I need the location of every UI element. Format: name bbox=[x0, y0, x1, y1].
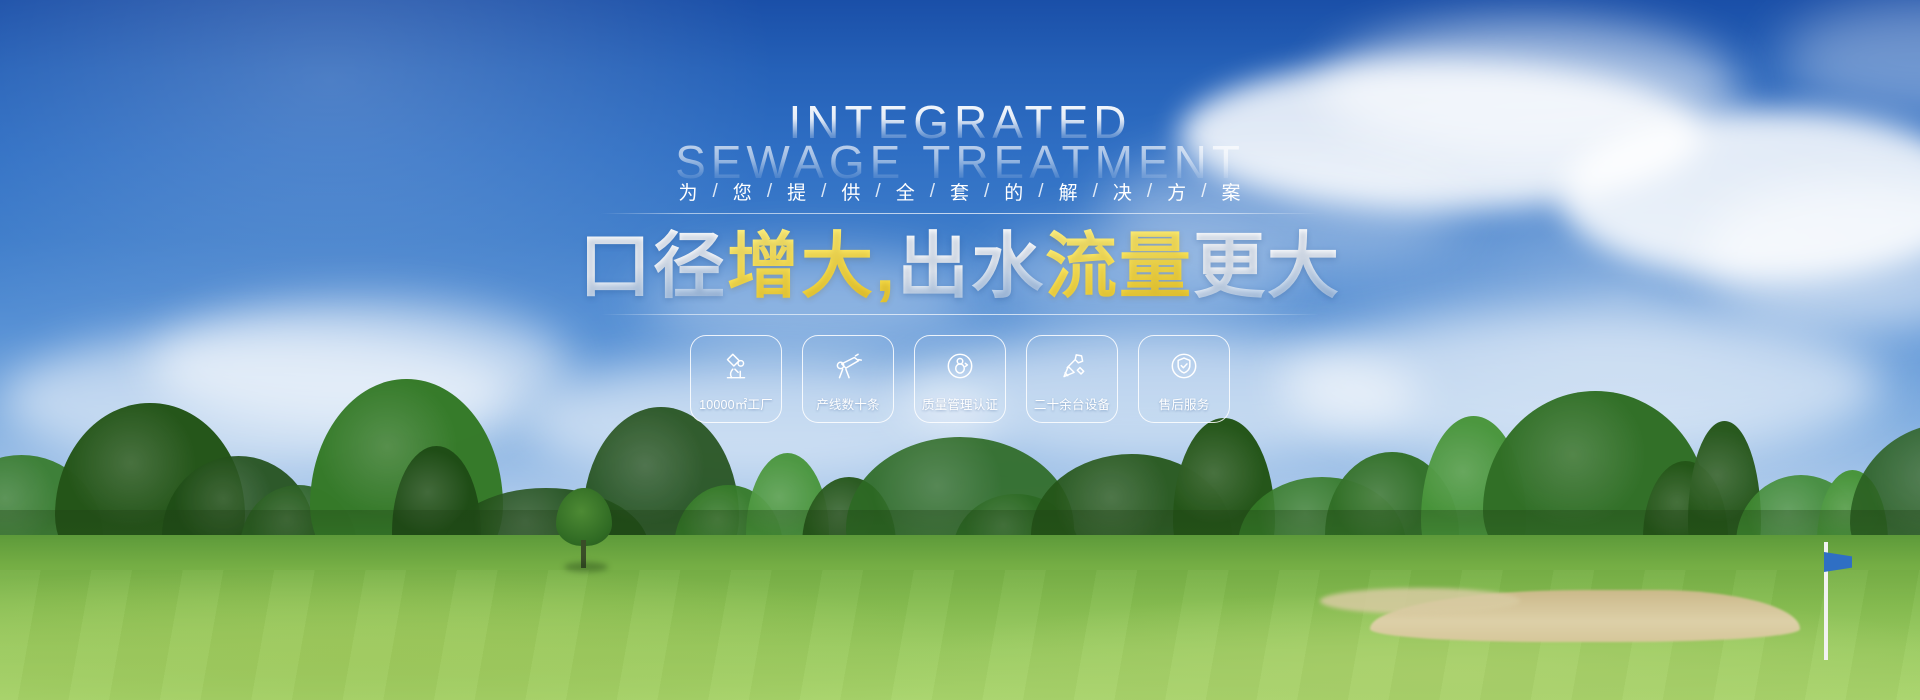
hero-banner: INTEGRATED SEWAGE TREATMENT 为/您/提/供/全/套/… bbox=[0, 0, 1920, 700]
english-headline-line-1: INTEGRATED bbox=[0, 100, 1920, 145]
wrench-tool-icon bbox=[1055, 349, 1089, 383]
microscope-icon bbox=[719, 349, 753, 383]
slogan-word: 为 bbox=[673, 178, 705, 205]
feature-badge-list: 10000㎡工厂产线数十条质量管理认证二十余台设备售后服务 bbox=[0, 335, 1920, 423]
headline-segment-4: 流量 bbox=[1045, 227, 1193, 307]
slogan-word: 解 bbox=[1053, 178, 1085, 205]
slogan-separator: / bbox=[976, 181, 998, 203]
headline-segment-3: 出水 bbox=[897, 227, 1045, 307]
slogan-separator: / bbox=[705, 181, 727, 203]
feature-badge-3[interactable]: 质量管理认证 bbox=[914, 335, 1006, 423]
slogan-separator: / bbox=[813, 181, 835, 203]
slogan-separator: / bbox=[1030, 181, 1052, 203]
slogan-word: 您 bbox=[727, 178, 759, 205]
feature-badge-4[interactable]: 二十余台设备 bbox=[1026, 335, 1118, 423]
main-headline: 口径增大,出水流量更大 bbox=[0, 228, 1920, 307]
headline-segment-5: 更大 bbox=[1193, 227, 1341, 307]
slogan-row: 为/您/提/供/全/套/的/解/决/方/案 bbox=[0, 178, 1920, 205]
slogan-word: 方 bbox=[1161, 178, 1193, 205]
feature-badge-label: 10000㎡工厂 bbox=[699, 394, 773, 413]
divider-top bbox=[601, 213, 1319, 214]
slogan-word: 供 bbox=[835, 178, 867, 205]
feature-badge-2[interactable]: 产线数十条 bbox=[802, 335, 894, 423]
slogan-word: 套 bbox=[944, 178, 976, 205]
telescope-icon bbox=[831, 349, 865, 383]
shield-check-icon bbox=[1167, 349, 1201, 383]
feature-badge-label: 产线数十条 bbox=[816, 394, 880, 413]
feature-badge-1[interactable]: 10000㎡工厂 bbox=[690, 335, 782, 423]
banner-content: INTEGRATED SEWAGE TREATMENT 为/您/提/供/全/套/… bbox=[0, 0, 1920, 700]
slogan-separator: / bbox=[922, 181, 944, 203]
slogan-word: 的 bbox=[998, 178, 1030, 205]
headline-segment-0: 口径 bbox=[579, 227, 727, 307]
slogan-separator: / bbox=[1193, 181, 1215, 203]
feature-badge-label: 二十余台设备 bbox=[1034, 394, 1110, 413]
slogan-word: 案 bbox=[1215, 178, 1247, 205]
slogan-word: 全 bbox=[890, 178, 922, 205]
headline-segment-2: , bbox=[875, 227, 897, 307]
feature-badge-5[interactable]: 售后服务 bbox=[1138, 335, 1230, 423]
slogan-separator: / bbox=[1085, 181, 1107, 203]
slogan-word: 提 bbox=[781, 178, 813, 205]
feature-badge-label: 质量管理认证 bbox=[922, 394, 998, 413]
slogan-separator: / bbox=[867, 181, 889, 203]
certificate-person-icon bbox=[943, 349, 977, 383]
slogan-word: 决 bbox=[1107, 178, 1139, 205]
slogan-separator: / bbox=[1139, 181, 1161, 203]
slogan-separator: / bbox=[759, 181, 781, 203]
divider-bottom bbox=[601, 314, 1319, 315]
headline-segment-1: 增大 bbox=[727, 227, 875, 307]
feature-badge-label: 售后服务 bbox=[1159, 394, 1210, 413]
